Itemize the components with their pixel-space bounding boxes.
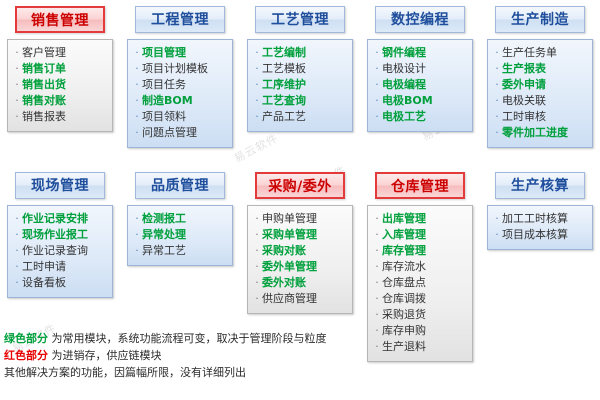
module-map-board: 易云软件 易云软件 易云软件 易云软件 销售管理·客户管理·销售订单·销售出货·…: [0, 0, 600, 400]
module-item[interactable]: ·库存管理: [372, 243, 469, 259]
bullet-icon: ·: [372, 61, 382, 77]
module-item-label: 库存管理: [382, 243, 426, 259]
module-item-label: 问题点管理: [142, 125, 197, 141]
module-item[interactable]: ·异常处理: [132, 227, 229, 243]
module-item[interactable]: ·设备看板: [12, 275, 109, 291]
module-row-top: 销售管理·客户管理·销售订单·销售出货·销售对账·销售报表工程管理·项目管理·项…: [0, 6, 600, 148]
module-item-label: 电极编程: [382, 77, 426, 93]
module-item-label: 项目领料: [142, 109, 186, 125]
module-group-header[interactable]: 仓库管理: [375, 172, 465, 199]
module-item[interactable]: ·工时审核: [492, 109, 589, 125]
module-item[interactable]: ·电极设计: [372, 61, 469, 77]
module-item[interactable]: ·问题点管理: [132, 125, 229, 141]
bullet-icon: ·: [132, 243, 142, 259]
module-item[interactable]: ·现场作业报工: [12, 227, 109, 243]
module-item-label: 库存流水: [382, 259, 426, 275]
module-item[interactable]: ·仓库调拨: [372, 291, 469, 307]
module-item-label: 销售报表: [22, 109, 66, 125]
bullet-icon: ·: [492, 61, 502, 77]
module-item-label: 生产任务单: [502, 45, 557, 61]
bullet-icon: ·: [132, 61, 142, 77]
bullet-icon: ·: [12, 93, 22, 109]
module-item-label: 工艺模板: [262, 61, 306, 77]
module-item[interactable]: ·项目计划模板: [132, 61, 229, 77]
bullet-icon: ·: [252, 227, 262, 243]
bullet-icon: ·: [372, 259, 382, 275]
bullet-icon: ·: [492, 109, 502, 125]
bullet-icon: ·: [372, 109, 382, 125]
module-item-list: ·工艺编制·工艺模板·工序维护·工艺查询·产品工艺: [247, 39, 353, 132]
bullet-icon: ·: [132, 109, 142, 125]
module-item[interactable]: ·采购退货: [372, 307, 469, 323]
module-item[interactable]: ·销售对账: [12, 93, 109, 109]
bullet-icon: ·: [252, 275, 262, 291]
module-item-label: 异常处理: [142, 227, 186, 243]
module-item-label: 申购单管理: [262, 211, 317, 227]
module-item[interactable]: ·入库管理: [372, 227, 469, 243]
module-item-label: 作业记录查询: [22, 243, 88, 259]
bullet-icon: ·: [252, 77, 262, 93]
module-item-label: 采购退货: [382, 307, 426, 323]
module-item-list: ·生产任务单·生产报表·委外申请·电极关联·工时审核·零件加工进度: [487, 39, 593, 148]
module-item-label: 客户管理: [22, 45, 66, 61]
module-item-label: 委外对账: [262, 275, 306, 291]
module-item-label: 生产报表: [502, 61, 546, 77]
module-item[interactable]: ·销售报表: [12, 109, 109, 125]
module-item[interactable]: ·委外申请: [492, 77, 589, 93]
module-group: 生产制造·生产任务单·生产报表·委外申请·电极关联·工时审核·零件加工进度: [480, 6, 600, 148]
module-item-list: ·加工工时核算·项目成本核算: [487, 205, 593, 250]
bullet-icon: ·: [252, 291, 262, 307]
module-item-label: 采购单管理: [262, 227, 317, 243]
module-item[interactable]: ·委外单管理: [252, 259, 349, 275]
legend-red-text: 为进销存，供应链模块: [48, 349, 162, 362]
bullet-icon: ·: [252, 243, 262, 259]
module-item[interactable]: ·电极BOM: [372, 93, 469, 109]
module-item-label: 出库管理: [382, 211, 426, 227]
module-item[interactable]: ·生产任务单: [492, 45, 589, 61]
bullet-icon: ·: [12, 61, 22, 77]
module-item-label: 异常工艺: [142, 243, 186, 259]
module-group: 工艺管理·工艺编制·工艺模板·工序维护·工艺查询·产品工艺: [240, 6, 360, 148]
bullet-icon: ·: [492, 125, 502, 141]
legend-line-note: 其他解决方案的功能，因篇幅所限，没有详细列出: [4, 364, 404, 381]
bullet-icon: ·: [132, 93, 142, 109]
module-item-label: 钢件编程: [382, 45, 426, 61]
module-item[interactable]: ·作业记录查询: [12, 243, 109, 259]
module-item[interactable]: ·工艺模板: [252, 61, 349, 77]
module-item-label: 入库管理: [382, 227, 426, 243]
legend-green-text: 为常用模块，系统功能流程可变，取决于管理阶段与粒度: [48, 332, 327, 345]
module-group: 数控编程·钢件编程·电极设计·电极编程·电极BOM·电极工艺: [360, 6, 480, 148]
module-item-label: 项目成本核算: [502, 227, 568, 243]
module-group-header[interactable]: 工艺管理: [255, 6, 345, 33]
module-item-label: 工时申请: [22, 259, 66, 275]
module-group-header[interactable]: 工程管理: [135, 6, 225, 33]
module-group-header[interactable]: 数控编程: [375, 6, 465, 33]
module-group-header[interactable]: 生产核算: [495, 172, 585, 199]
bullet-icon: ·: [132, 77, 142, 93]
module-item-label: 现场作业报工: [22, 227, 88, 243]
module-item[interactable]: ·供应商管理: [252, 291, 349, 307]
module-item-list: ·客户管理·销售订单·销售出货·销售对账·销售报表: [7, 39, 113, 132]
module-group: 销售管理·客户管理·销售订单·销售出货·销售对账·销售报表: [0, 6, 120, 148]
bullet-icon: ·: [12, 77, 22, 93]
bullet-icon: ·: [372, 45, 382, 61]
bullet-icon: ·: [492, 45, 502, 61]
bullet-icon: ·: [252, 211, 262, 227]
module-item[interactable]: ·产品工艺: [252, 109, 349, 125]
bullet-icon: ·: [372, 93, 382, 109]
bullet-icon: ·: [372, 227, 382, 243]
module-item[interactable]: ·项目成本核算: [492, 227, 589, 243]
module-item[interactable]: ·电极关联: [492, 93, 589, 109]
legend-red-tag: 红色部分: [4, 349, 48, 362]
module-item-label: 项目任务: [142, 77, 186, 93]
module-item[interactable]: ·作业记录安排: [12, 211, 109, 227]
module-item[interactable]: ·仓库盘点: [372, 275, 469, 291]
module-item[interactable]: ·工时申请: [12, 259, 109, 275]
module-item-label: 产品工艺: [262, 109, 306, 125]
module-item[interactable]: ·加工工时核算: [492, 211, 589, 227]
module-item-list: ·钢件编程·电极设计·电极编程·电极BOM·电极工艺: [367, 39, 473, 132]
bullet-icon: ·: [132, 211, 142, 227]
module-item[interactable]: ·检测报工: [132, 211, 229, 227]
module-item[interactable]: ·钢件编程: [372, 45, 469, 61]
module-item-label: 制造BOM: [142, 93, 193, 109]
bullet-icon: ·: [492, 211, 502, 227]
bullet-icon: ·: [372, 77, 382, 93]
module-item[interactable]: ·异常工艺: [132, 243, 229, 259]
bullet-icon: ·: [492, 77, 502, 93]
legend-green-tag: 绿色部分: [4, 332, 48, 345]
module-item[interactable]: ·项目领料: [132, 109, 229, 125]
module-item[interactable]: ·销售订单: [12, 61, 109, 77]
module-item-label: 设备看板: [22, 275, 66, 291]
module-group-header[interactable]: 现场管理: [15, 172, 105, 199]
module-item-label: 采购对账: [262, 243, 306, 259]
module-item[interactable]: ·库存流水: [372, 259, 469, 275]
legend-line-red: 红色部分 为进销存，供应链模块: [4, 347, 404, 364]
module-item[interactable]: ·项目任务: [132, 77, 229, 93]
module-item-label: 工序维护: [262, 77, 306, 93]
module-item[interactable]: ·申购单管理: [252, 211, 349, 227]
module-item-list: ·检测报工·异常处理·异常工艺: [127, 205, 233, 266]
module-item-list: ·申购单管理·采购单管理·采购对账·委外单管理·委外对账·供应商管理: [247, 205, 353, 314]
module-item-label: 电极工艺: [382, 109, 426, 125]
bullet-icon: ·: [132, 125, 142, 141]
module-item-label: 仓库调拨: [382, 291, 426, 307]
bullet-icon: ·: [132, 45, 142, 61]
module-group-header[interactable]: 销售管理: [15, 6, 105, 33]
bullet-icon: ·: [372, 275, 382, 291]
module-item-label: 电极设计: [382, 61, 426, 77]
module-item-label: 销售对账: [22, 93, 66, 109]
module-item[interactable]: ·制造BOM: [132, 93, 229, 109]
module-item[interactable]: ·生产报表: [492, 61, 589, 77]
module-item-label: 电极关联: [502, 93, 546, 109]
module-item[interactable]: ·出库管理: [372, 211, 469, 227]
bullet-icon: ·: [12, 259, 22, 275]
module-group-header[interactable]: 生产制造: [495, 6, 585, 33]
module-group-header[interactable]: 品质管理: [135, 172, 225, 199]
module-item[interactable]: ·采购对账: [252, 243, 349, 259]
bullet-icon: ·: [372, 291, 382, 307]
bullet-icon: ·: [12, 45, 22, 61]
module-item-label: 工艺查询: [262, 93, 306, 109]
legend: 绿色部分 为常用模块，系统功能流程可变，取决于管理阶段与粒度 红色部分 为进销存…: [4, 330, 404, 381]
module-item-label: 项目管理: [142, 45, 186, 61]
module-item-label: 工时审核: [502, 109, 546, 125]
module-item[interactable]: ·委外对账: [252, 275, 349, 291]
module-group: 工程管理·项目管理·项目计划模板·项目任务·制造BOM·项目领料·问题点管理: [120, 6, 240, 148]
bullet-icon: ·: [492, 93, 502, 109]
bullet-icon: ·: [372, 211, 382, 227]
bullet-icon: ·: [252, 259, 262, 275]
module-item-label: 委外申请: [502, 77, 546, 93]
bullet-icon: ·: [12, 243, 22, 259]
module-item-label: 项目计划模板: [142, 61, 208, 77]
module-item-label: 加工工时核算: [502, 211, 568, 227]
module-item-label: 仓库盘点: [382, 275, 426, 291]
module-item[interactable]: ·项目管理: [132, 45, 229, 61]
module-item-label: 供应商管理: [262, 291, 317, 307]
module-item-label: 零件加工进度: [502, 125, 568, 141]
bullet-icon: ·: [12, 227, 22, 243]
bullet-icon: ·: [132, 227, 142, 243]
legend-line-green: 绿色部分 为常用模块，系统功能流程可变，取决于管理阶段与粒度: [4, 330, 404, 347]
bullet-icon: ·: [492, 227, 502, 243]
module-item[interactable]: ·采购单管理: [252, 227, 349, 243]
bullet-icon: ·: [252, 61, 262, 77]
module-group-header[interactable]: 采购/委外: [255, 172, 345, 199]
module-item[interactable]: ·电极工艺: [372, 109, 469, 125]
module-item-label: 销售出货: [22, 77, 66, 93]
module-item[interactable]: ·客户管理: [12, 45, 109, 61]
bullet-icon: ·: [372, 243, 382, 259]
module-item-label: 委外单管理: [262, 259, 317, 275]
module-item-label: 检测报工: [142, 211, 186, 227]
module-item[interactable]: ·电极编程: [372, 77, 469, 93]
module-item-label: 作业记录安排: [22, 211, 88, 227]
bullet-icon: ·: [12, 109, 22, 125]
module-item[interactable]: ·工艺编制: [252, 45, 349, 61]
module-item-label: 销售订单: [22, 61, 66, 77]
module-item-label: 工艺编制: [262, 45, 306, 61]
module-item[interactable]: ·销售出货: [12, 77, 109, 93]
bullet-icon: ·: [12, 275, 22, 291]
module-item-label: 电极BOM: [382, 93, 433, 109]
module-item[interactable]: ·工序维护: [252, 77, 349, 93]
bullet-icon: ·: [252, 109, 262, 125]
module-group: 生产核算·加工工时核算·项目成本核算: [480, 172, 600, 362]
bullet-icon: ·: [372, 307, 382, 323]
module-item[interactable]: ·工艺查询: [252, 93, 349, 109]
module-item[interactable]: ·零件加工进度: [492, 125, 589, 141]
module-item-list: ·项目管理·项目计划模板·项目任务·制造BOM·项目领料·问题点管理: [127, 39, 233, 148]
bullet-icon: ·: [252, 45, 262, 61]
bullet-icon: ·: [12, 211, 22, 227]
bullet-icon: ·: [252, 93, 262, 109]
module-item-list: ·作业记录安排·现场作业报工·作业记录查询·工时申请·设备看板: [7, 205, 113, 298]
